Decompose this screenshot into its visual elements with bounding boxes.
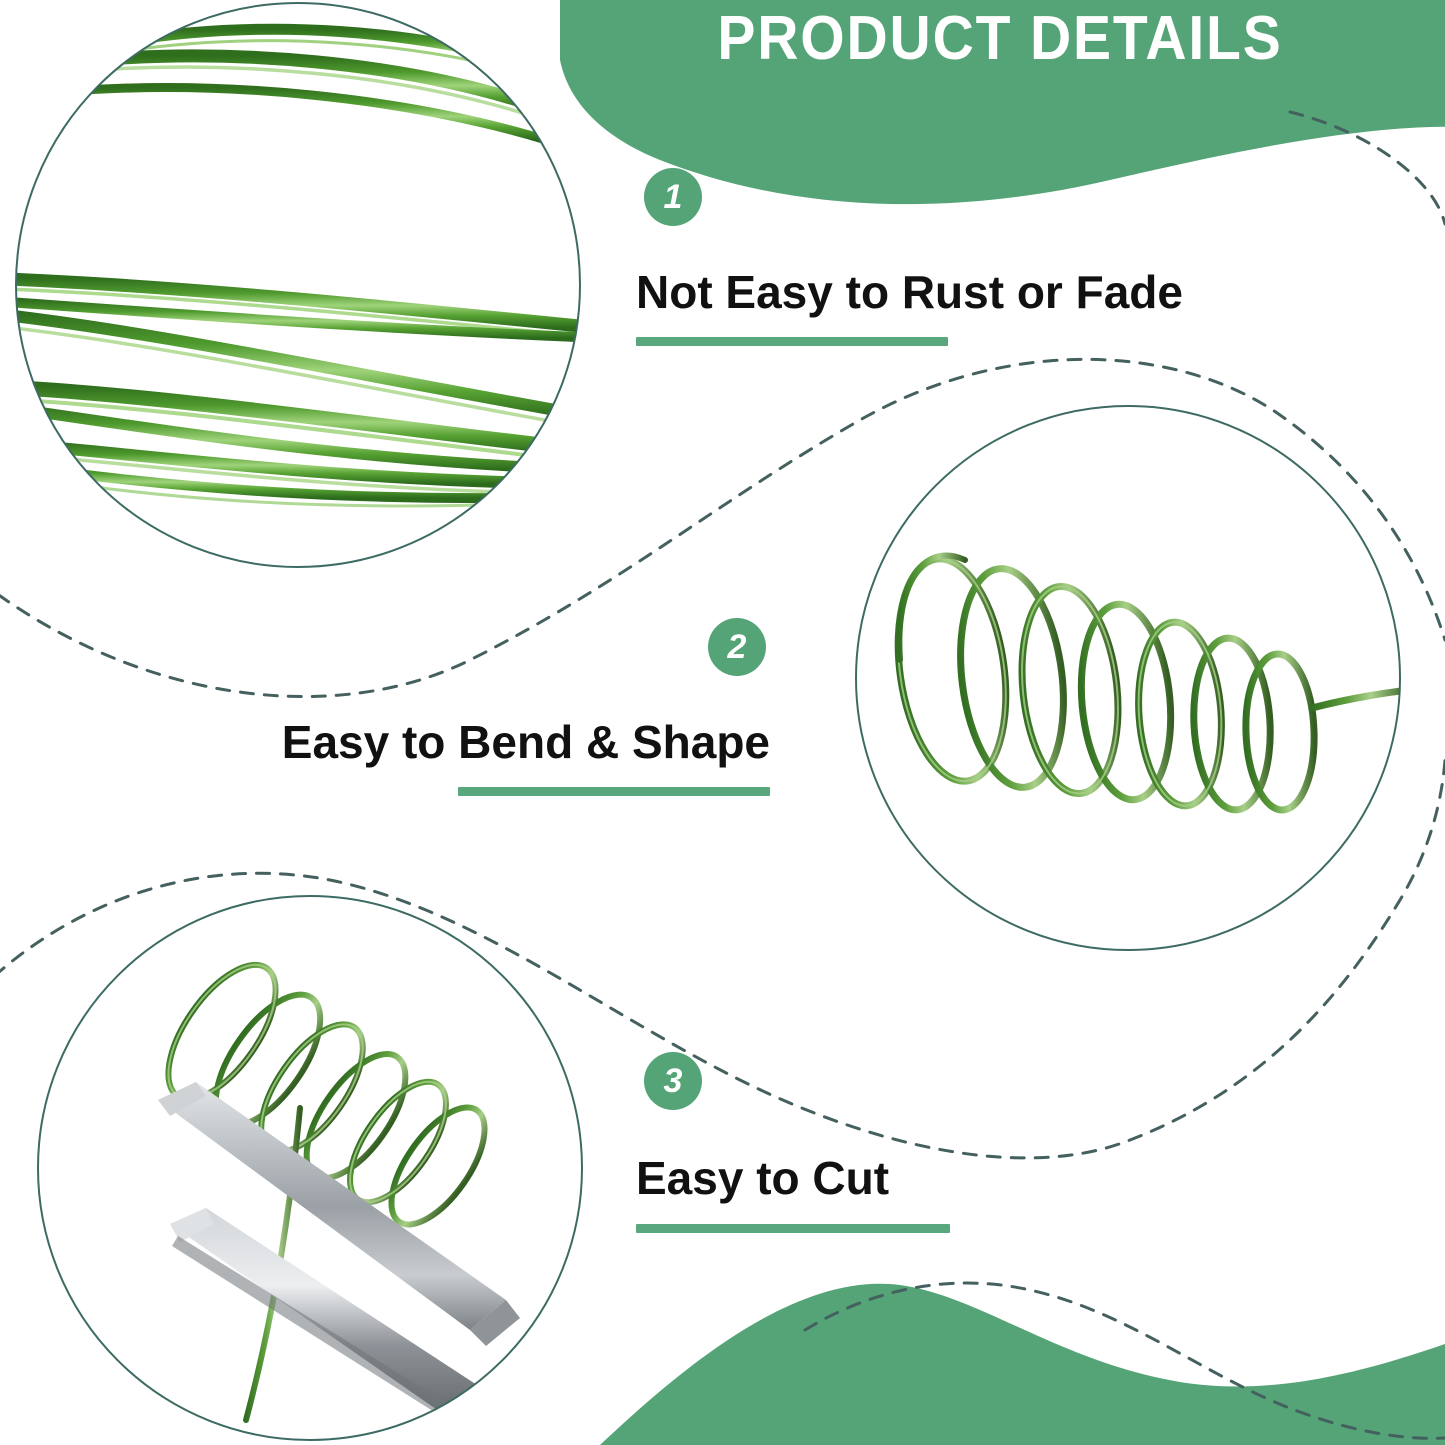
scissor-blade-lower	[170, 1208, 500, 1432]
page-title: PRODUCT DETAILS	[632, 8, 1368, 70]
feature-number-badge-3: 3	[644, 1052, 702, 1110]
feature-title-3: Easy to Cut	[636, 1154, 950, 1202]
photo-circle-wire-coil	[856, 406, 1410, 950]
feature-title-2: Easy to Bend & Shape	[250, 718, 770, 766]
feature-underline-3	[636, 1224, 950, 1233]
photo-circle-cutting-wire	[38, 896, 582, 1440]
bottom-wave-shape	[600, 1284, 1445, 1445]
dashed-curve-header	[1290, 112, 1445, 224]
feature-item-3: 3 Easy to Cut	[636, 1052, 950, 1233]
feature-item-2: 2 Easy to Bend & Shape	[250, 618, 770, 796]
dashed-curve-bottom-wave	[805, 1283, 1445, 1438]
feature-number-badge-2: 2	[708, 618, 766, 676]
feature-item-1: 1 Not Easy to Rust or Fade	[636, 168, 1183, 346]
feature-number-badge-1: 1	[644, 168, 702, 226]
feature-underline-2	[458, 787, 770, 796]
product-details-infographic: PRODUCT DETAILS 1 Not Easy to Rust or Fa…	[0, 0, 1445, 1445]
scissor-blade-upper	[158, 1082, 520, 1346]
feature-underline-1	[636, 337, 948, 346]
feature-title-1: Not Easy to Rust or Fade	[636, 268, 1183, 316]
photo-circle-wire-strands	[0, 0, 620, 600]
